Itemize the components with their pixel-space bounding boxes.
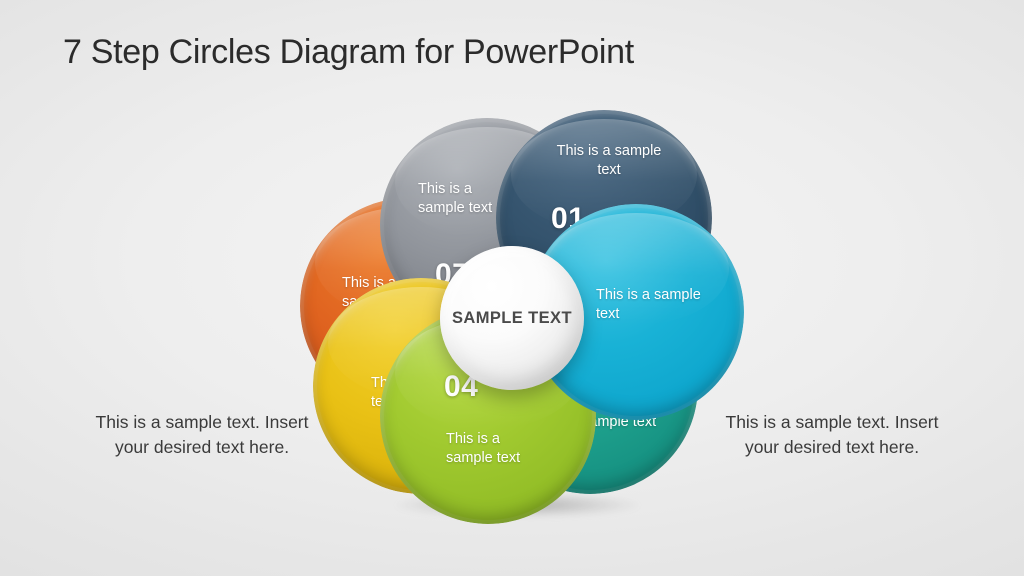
center-circle[interactable]: SAMPLE TEXT (440, 246, 584, 390)
step-02-label: This is a sample text (596, 286, 716, 324)
step-04-label: This is a sample text (446, 430, 534, 468)
center-circle-label: SAMPLE TEXT (452, 307, 572, 329)
step-07-label: This is a sample text (418, 180, 504, 218)
seven-step-circles-diagram: This is a sample text 06 This is a sampl… (300, 110, 720, 530)
page-title: 7 Step Circles Diagram for PowerPoint (63, 33, 634, 72)
caption-left: This is a sample text. Insert your desir… (92, 410, 312, 461)
caption-right: This is a sample text. Insert your desir… (714, 410, 950, 461)
step-01-label: This is a sample text (554, 142, 664, 180)
